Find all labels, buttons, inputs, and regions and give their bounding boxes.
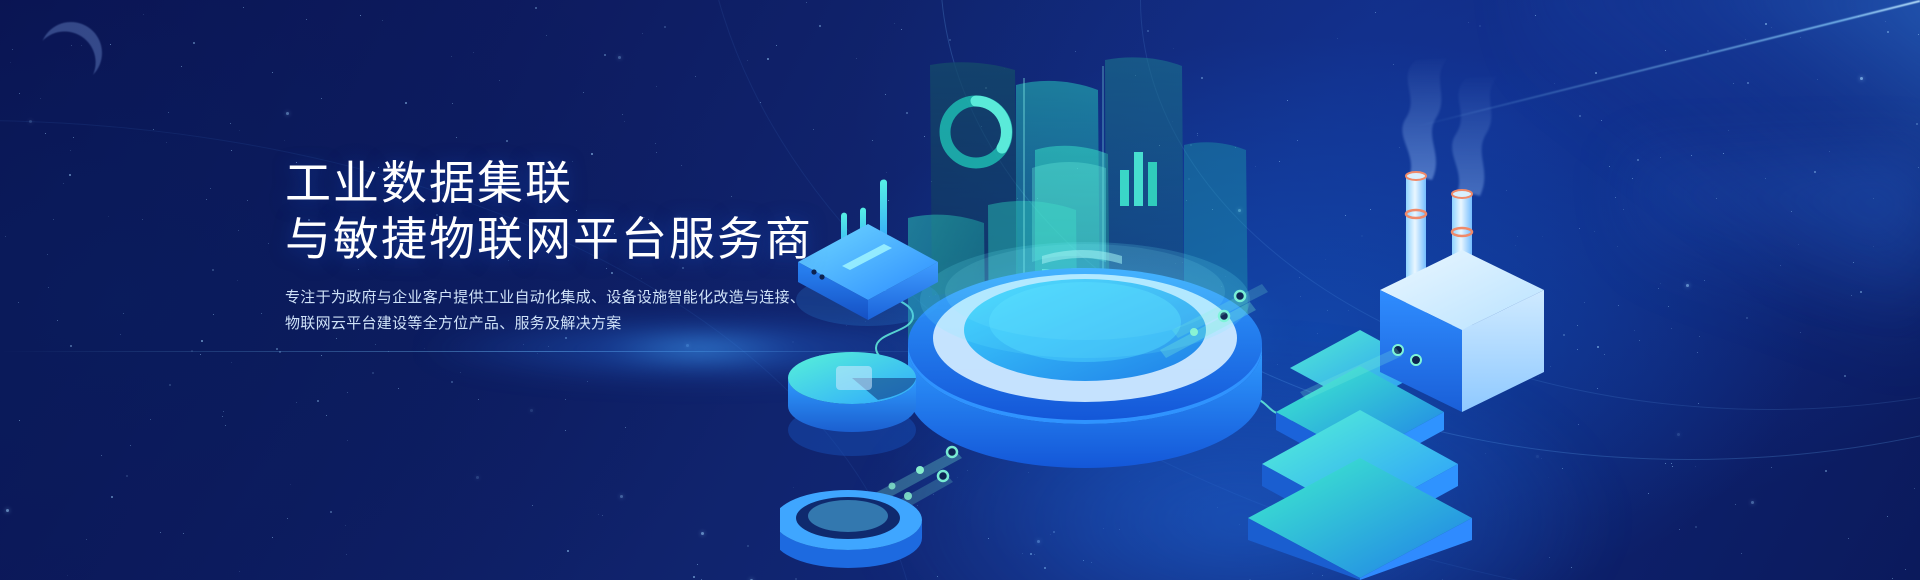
star-dot: [583, 92, 584, 93]
star-dot: [272, 72, 273, 73]
star-dot: [618, 56, 621, 59]
star-dot: [382, 20, 383, 21]
star-dot: [656, 86, 657, 87]
star-dot: [143, 14, 144, 15]
star-dot: [110, 44, 111, 45]
hero-banner: 工业数据集联 与敏捷物联网平台服务商 专注于为政府与企业客户提供工业自动化集成、…: [0, 0, 1920, 580]
star-dot: [193, 42, 195, 44]
star-dot: [321, 98, 322, 99]
star-dot: [452, 103, 453, 104]
star-dot: [19, 93, 20, 94]
star-dot: [624, 121, 625, 122]
star-dot: [284, 140, 285, 141]
subtitle-line-2: 物联网云平台建设等全方位产品、服务及解决方案: [285, 311, 815, 337]
star-dot: [655, 143, 656, 144]
ring-base: [780, 490, 926, 568]
star-dot: [306, 19, 307, 20]
factory: [1380, 58, 1544, 412]
subtitle-line-1: 专注于为政府与企业客户提供工业自动化集成、设备设施智能化改造与连接、: [285, 285, 815, 311]
data-panels-group: [780, 0, 1920, 580]
star-dot: [499, 80, 500, 81]
cylinder-unit: [788, 352, 916, 456]
star-dot: [622, 114, 623, 115]
star-dot: [168, 112, 169, 113]
star-dot: [10, 62, 11, 63]
star-dot: [286, 112, 289, 115]
star-dot: [451, 56, 452, 57]
crescent-moon-icon: [32, 14, 110, 92]
star-dot: [604, 54, 606, 56]
star-dot: [12, 49, 13, 50]
star-dot: [664, 26, 666, 28]
star-dot: [230, 123, 231, 124]
star-dot: [642, 33, 643, 34]
iot-illustration: [780, 0, 1920, 580]
star-dot: [473, 52, 474, 53]
headline-line-2: 与敏捷物联网平台服务商: [285, 211, 905, 267]
star-dot: [40, 98, 41, 99]
star-dot: [243, 7, 244, 8]
star-dot: [239, 130, 240, 131]
star-dot: [405, 102, 407, 104]
star-dot: [506, 140, 508, 142]
star-dot: [456, 137, 457, 138]
star-dot: [695, 76, 696, 77]
star-dot: [656, 152, 657, 153]
hero-subtitle: 专注于为政府与企业客户提供工业自动化集成、设备设施智能化改造与连接、 物联网云平…: [285, 285, 815, 337]
hero-text-block: 工业数据集联 与敏捷物联网平台服务商 专注于为政府与企业客户提供工业自动化集成、…: [285, 155, 905, 337]
star-dot: [360, 15, 361, 16]
star-dot: [535, 7, 537, 9]
star-dot: [181, 66, 182, 67]
headline-line-1: 工业数据集联: [285, 155, 905, 211]
star-dot: [546, 35, 547, 36]
